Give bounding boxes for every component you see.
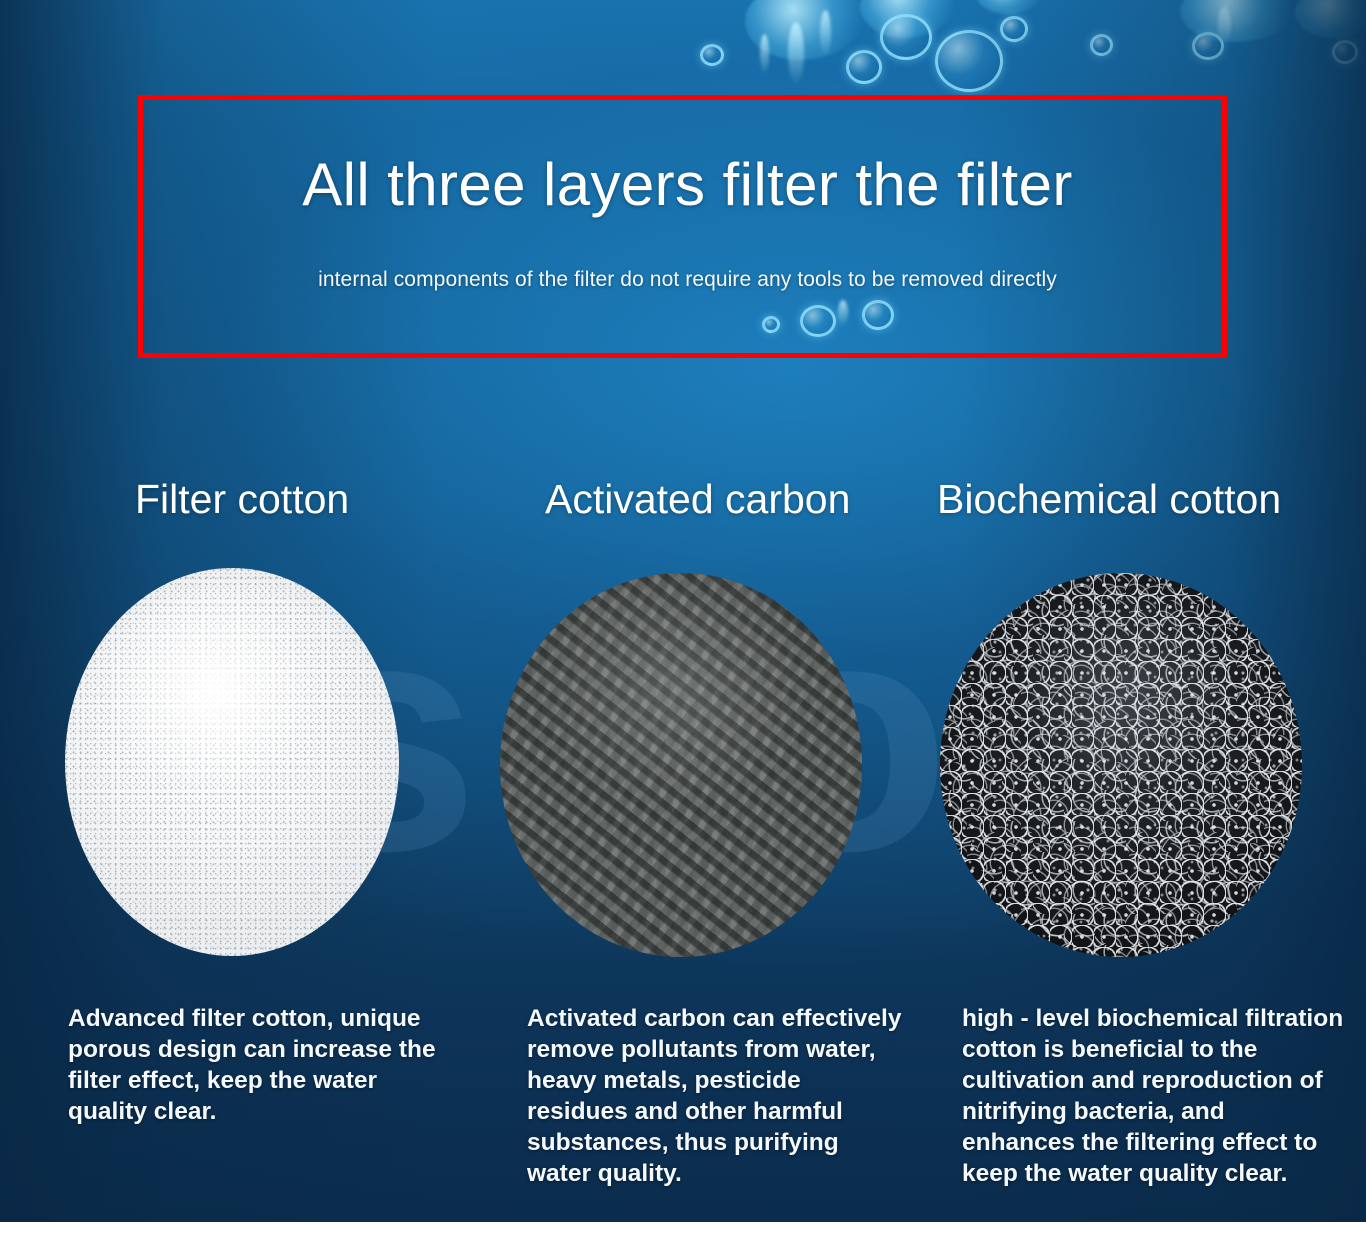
column-title: Biochemical cotton (937, 476, 1281, 523)
page-subtitle: internal components of the filter do not… (143, 268, 1232, 292)
highlight-box: All three layers filter the filter inter… (138, 95, 1227, 358)
bottom-white-strip (0, 1222, 1366, 1246)
biochemical-cotton-photo (940, 573, 1302, 957)
infographic-page: nsoo All three layers filter the filter … (0, 0, 1366, 1246)
activated-carbon-photo (500, 573, 862, 957)
column-description: Advanced filter cotton, unique porous de… (68, 1003, 440, 1127)
filter-cotton-photo (65, 568, 399, 956)
column-title: Filter cotton (135, 476, 349, 523)
column-title: Activated carbon (545, 476, 850, 523)
column-description: Activated carbon can effectively remove … (527, 1003, 903, 1189)
column-description: high - level biochemical filtration cott… (962, 1003, 1344, 1189)
page-title: All three layers filter the filter (143, 150, 1232, 219)
